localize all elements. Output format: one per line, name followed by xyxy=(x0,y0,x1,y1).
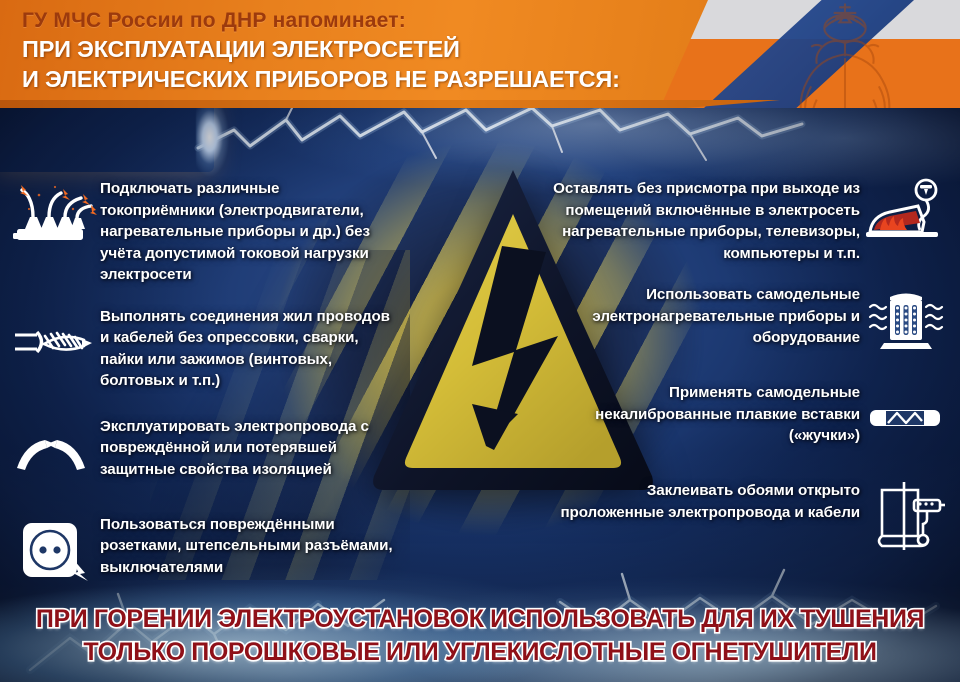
header-title-line2: И ЭЛЕКТРИЧЕСКИХ ПРИБОРОВ НЕ РАЗРЕШАЕТСЯ: xyxy=(22,64,722,94)
rule-text: Подключать различные токоприёмники (элек… xyxy=(100,176,398,286)
rule-item: Выполнять соединения жил проводов и кабе… xyxy=(8,304,398,392)
left-rules-column: Подключать различные токоприёмники (элек… xyxy=(8,176,398,588)
bottom-banner-line2: ТОЛЬКО ПОРОШКОВЫЕ ИЛИ УГЛЕКИСЛОТНЫЕ ОГНЕ… xyxy=(83,636,876,669)
header-banner: ГУ МЧС России по ДНР напоминает: ПРИ ЭКС… xyxy=(0,0,960,108)
bottom-banner: ПРИ ГОРЕНИИ ЭЛЕКТРОУСТАНОВОК ИСПОЛЬЗОВАТ… xyxy=(0,590,960,682)
rule-item: Эксплуатировать электропровода с поврежд… xyxy=(8,414,398,490)
rule-text: Оставлять без присмотра при выходе из по… xyxy=(552,176,860,264)
rule-item: Применять самодельные некалиброванные пл… xyxy=(552,380,952,456)
wallpaper-roller-over-cable-icon xyxy=(860,478,952,554)
header-bottom-edge xyxy=(0,100,780,108)
rule-item: Использовать самодельные электронагреват… xyxy=(552,282,952,358)
damaged-insulation-wire-icon xyxy=(8,414,100,490)
rule-item: Подключать различные токоприёмники (элек… xyxy=(8,176,398,286)
twisted-wire-splice-icon xyxy=(8,304,100,380)
poster-root: Подключать различные токоприёмники (элек… xyxy=(0,0,960,682)
uncalibrated-fuse-icon xyxy=(860,380,952,456)
rule-text: Заклеивать обоями открыто проложенные эл… xyxy=(552,478,860,523)
header-subtitle: ГУ МЧС России по ДНР напоминает: xyxy=(22,8,722,34)
bottom-banner-line1: ПРИ ГОРЕНИИ ЭЛЕКТРОУСТАНОВОК ИСПОЛЬЗОВАТ… xyxy=(36,603,924,636)
power-strip-overload-icon xyxy=(8,176,100,252)
rule-text: Выполнять соединения жил проводов и кабе… xyxy=(100,304,398,392)
rule-text: Использовать самодельные электронагреват… xyxy=(552,282,860,349)
rule-item: Заклеивать обоями открыто проложенные эл… xyxy=(552,478,952,554)
header-text-block: ГУ МЧС России по ДНР напоминает: ПРИ ЭКС… xyxy=(22,8,722,94)
homemade-heater-icon xyxy=(860,282,952,358)
rule-text: Эксплуатировать электропровода с поврежд… xyxy=(100,414,398,481)
header-title-line1: ПРИ ЭКСПЛУАТАЦИИ ЭЛЕКТРОСЕТЕЙ xyxy=(22,34,722,64)
mchs-double-headed-eagle-emblem-icon xyxy=(776,0,914,108)
rule-text: Применять самодельные некалиброванные пл… xyxy=(552,380,860,447)
right-rules-column: Оставлять без присмотра при выходе из по… xyxy=(552,176,952,554)
unattended-iron-fire-icon xyxy=(860,176,952,252)
rule-item: Оставлять без присмотра при выходе из по… xyxy=(552,176,952,264)
